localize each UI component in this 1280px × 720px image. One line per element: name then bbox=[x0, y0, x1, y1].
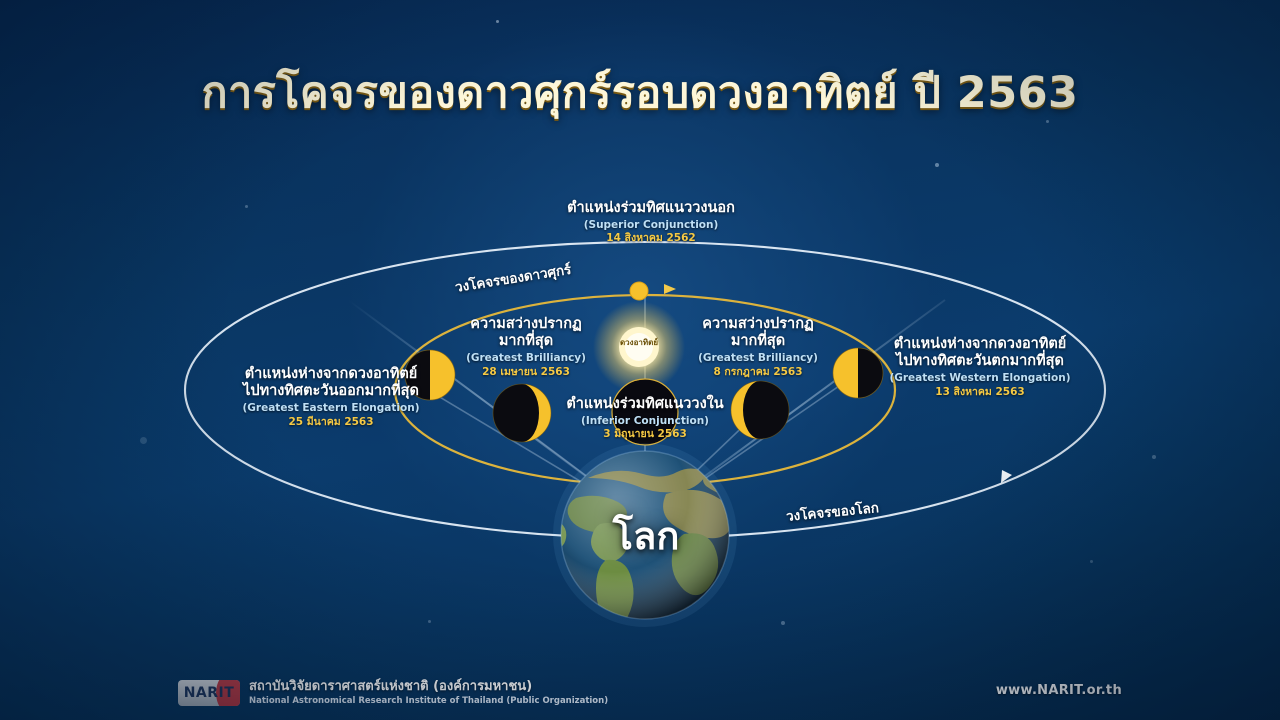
infographic-canvas: การโคจรของดาวศุกร์รอบดวงอาทิตย์ ปี 2563 bbox=[0, 0, 1280, 720]
label-brilliancy-spring-th-2: มากที่สุด bbox=[426, 333, 626, 350]
label-eastern-elongation-th-2: ไปทางทิศตะวันออกมากที่สุด bbox=[198, 383, 464, 400]
label-inferior-conjunction-en: (Inferior Conjunction) bbox=[500, 415, 790, 427]
label-western-elongation-date: 13 สิงหาคม 2563 bbox=[840, 386, 1120, 398]
sun-label: ดวงอาทิตย์ bbox=[608, 336, 670, 349]
label-superior-conjunction-th: ตำแหน่งร่วมทิศแนววงนอก bbox=[476, 200, 826, 217]
footer: NARIT สถาบันวิจัยดาราศาสตร์แห่งชาติ (องค… bbox=[0, 658, 1280, 720]
label-brilliancy-summer-date: 8 กรกฎาคม 2563 bbox=[658, 366, 858, 378]
label-superior-conjunction-date: 14 สิงหาคม 2562 bbox=[476, 232, 826, 244]
label-eastern-elongation-date: 25 มีนาคม 2563 bbox=[198, 416, 464, 428]
narit-logo-icon: NARIT bbox=[178, 680, 240, 706]
label-brilliancy-summer-en: (Greatest Brilliancy) bbox=[658, 352, 858, 364]
venus-superior-conjunction bbox=[630, 282, 648, 300]
label-brilliancy-spring-th-1: ความสว่างปรากฏ bbox=[426, 316, 626, 333]
label-eastern-elongation-th-1: ตำแหน่งห่างจากดวงอาทิตย์ bbox=[198, 366, 464, 383]
label-western-elongation-th-1: ตำแหน่งห่างจากดวงอาทิตย์ bbox=[840, 336, 1120, 353]
narit-brand-text: สถาบันวิจัยดาราศาสตร์แห่งชาติ (องค์การมห… bbox=[249, 680, 608, 706]
label-brilliancy-summer-th-2: มากที่สุด bbox=[658, 333, 858, 350]
label-greatest-brilliancy-summer: ความสว่างปรากฏ มากที่สุด (Greatest Brill… bbox=[658, 316, 858, 378]
label-western-elongation-th-2: ไปทางทิศตะวันตกมากที่สุด bbox=[840, 353, 1120, 370]
label-western-elongation-en: (Greatest Western Elongation) bbox=[840, 372, 1120, 384]
label-greatest-eastern-elongation: ตำแหน่งห่างจากดวงอาทิตย์ ไปทางทิศตะวันออ… bbox=[198, 366, 464, 428]
website-url[interactable]: www.NARIT.or.th bbox=[996, 683, 1122, 698]
org-name-th: สถาบันวิจัยดาราศาสตร์แห่งชาติ (องค์การมห… bbox=[249, 680, 608, 695]
narit-logo-text: NARIT bbox=[184, 685, 235, 701]
label-brilliancy-summer-th-1: ความสว่างปรากฏ bbox=[658, 316, 858, 333]
label-inferior-conjunction-date: 3 มิถุนายน 2563 bbox=[500, 428, 790, 440]
label-superior-conjunction: ตำแหน่งร่วมทิศแนววงนอก (Superior Conjunc… bbox=[476, 200, 826, 245]
label-superior-conjunction-en: (Superior Conjunction) bbox=[476, 219, 826, 231]
narit-brand: NARIT สถาบันวิจัยดาราศาสตร์แห่งชาติ (องค… bbox=[178, 680, 608, 706]
label-inferior-conjunction: ตำแหน่งร่วมทิศแนววงใน (Inferior Conjunct… bbox=[500, 396, 790, 441]
org-name-en: National Astronomical Research Institute… bbox=[249, 696, 608, 706]
label-greatest-western-elongation: ตำแหน่งห่างจากดวงอาทิตย์ ไปทางทิศตะวันตก… bbox=[840, 336, 1120, 398]
label-eastern-elongation-en: (Greatest Eastern Elongation) bbox=[198, 402, 464, 414]
label-inferior-conjunction-th: ตำแหน่งร่วมทิศแนววงใน bbox=[500, 396, 790, 413]
label-brilliancy-spring-en: (Greatest Brilliancy) bbox=[426, 352, 626, 364]
earth-label: โลก bbox=[551, 505, 741, 566]
